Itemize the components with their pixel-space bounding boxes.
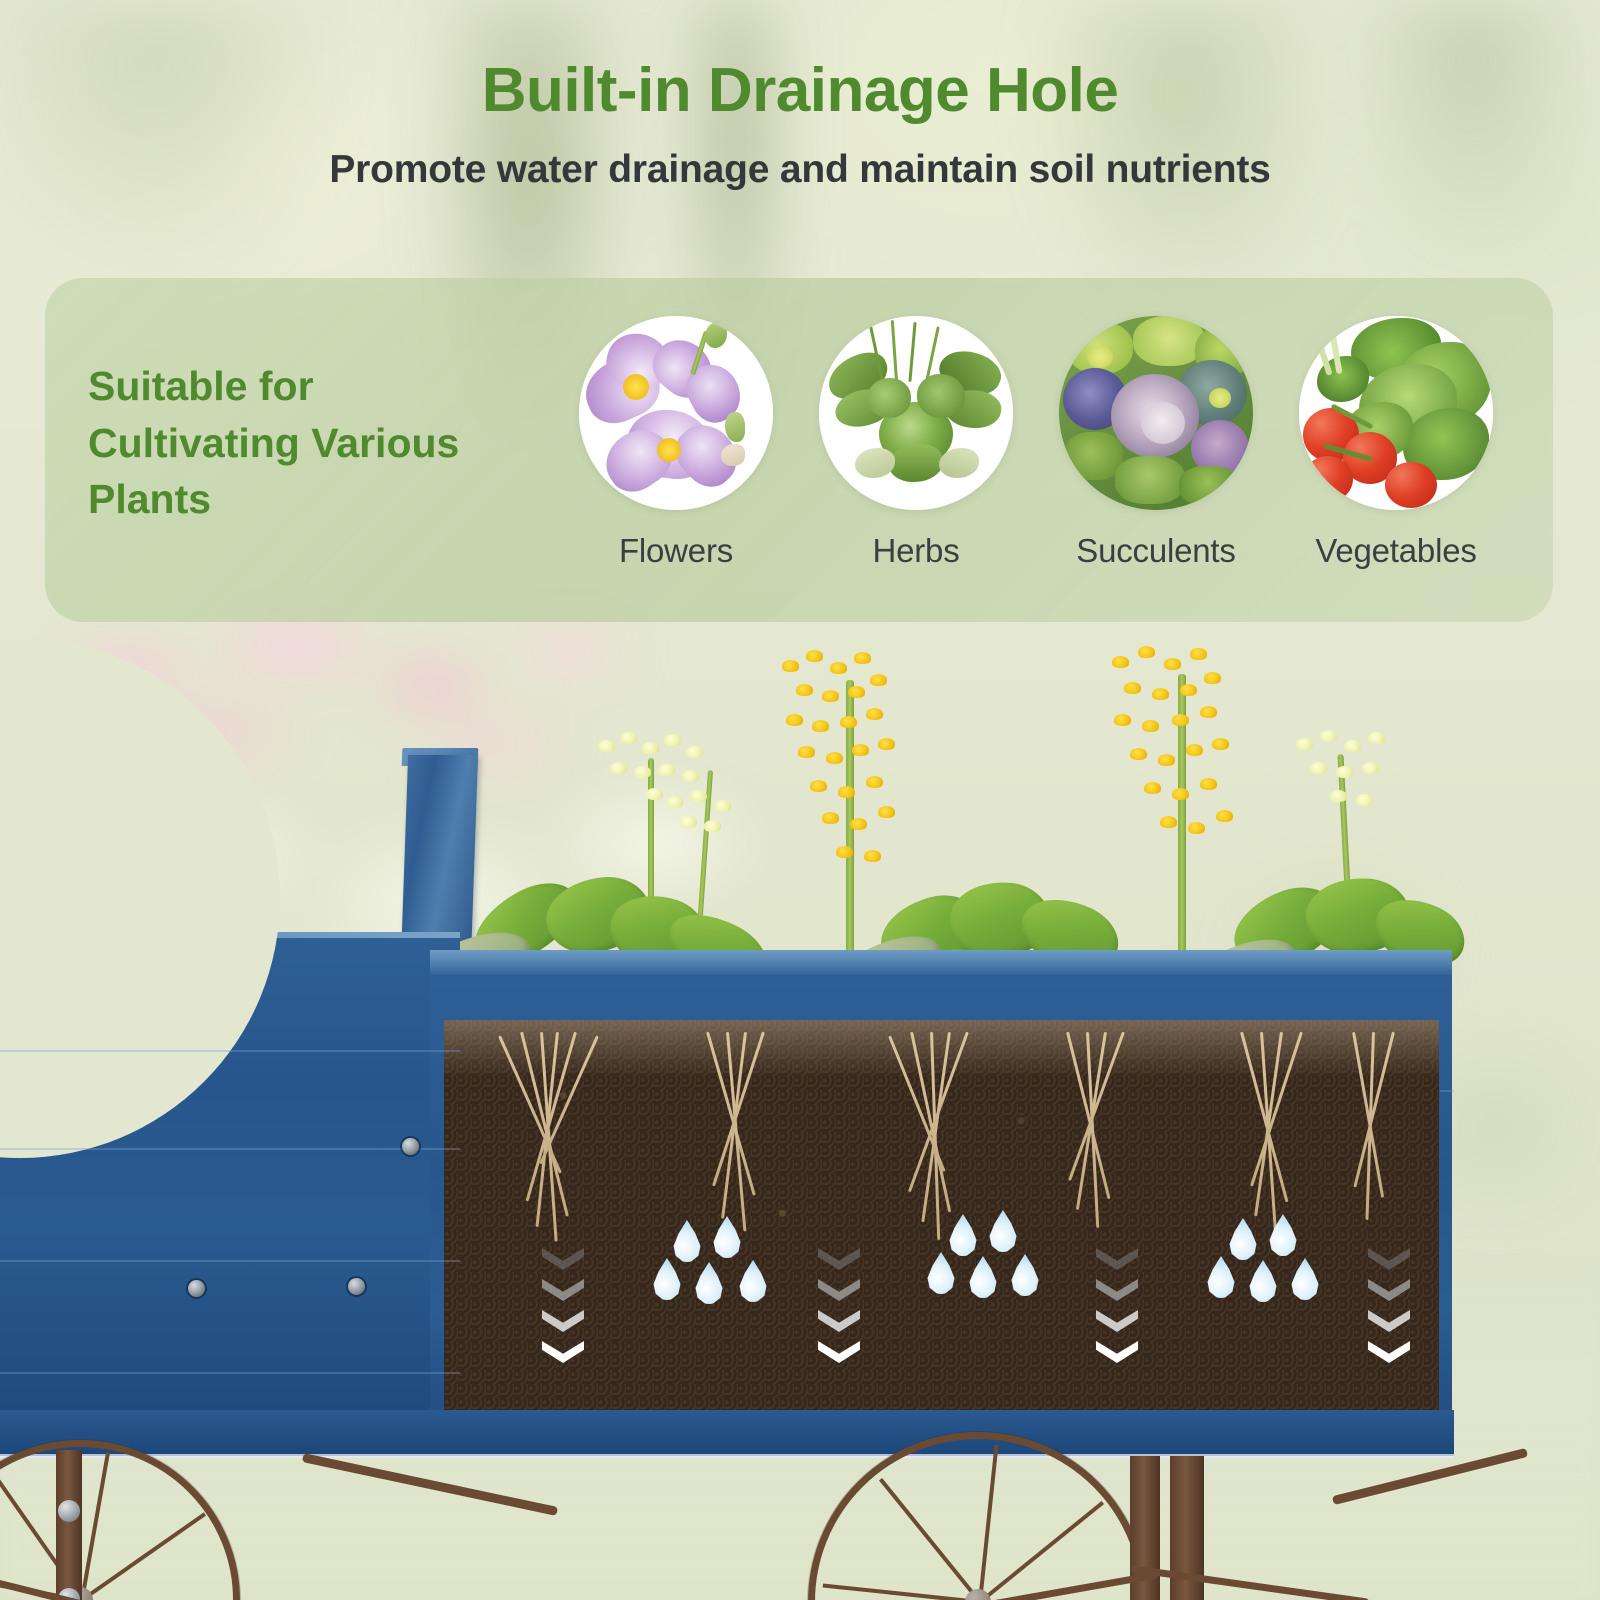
axle-bar [1131,1565,1370,1600]
chevron-down-icon [818,1248,860,1372]
plant-type-label: Vegetables [1315,532,1476,570]
leg-bracket [56,1450,82,1600]
plank-line [0,1050,460,1052]
flowers-icon [579,316,773,510]
marketing-image-canvas: Built-in Drainage Hole Promote water dra… [0,0,1600,1600]
planter-top-rim [430,950,1452,978]
herbs-icon [819,316,1013,510]
plant-type-item-vegetables[interactable]: Vegetables [1276,316,1516,606]
plant-type-item-herbs[interactable]: Herbs [796,316,1036,606]
succulents-icon [1059,316,1253,510]
plant-type-label: Herbs [872,532,959,570]
chevron-down-icon [542,1248,584,1372]
bolt-icon [58,1500,80,1522]
screw-icon [348,1278,365,1295]
plank-line [1440,1090,1454,1092]
plant-type-label: Succulents [1076,532,1235,570]
plant-type-label: Flowers [619,532,733,570]
page-subtitle: Promote water drainage and maintain soil… [0,148,1600,192]
plant-type-list: Flowers [556,316,1516,606]
plank-line [0,1372,460,1374]
screw-icon [188,1280,205,1297]
planter-left-side-panel [0,938,460,1418]
planter-bottom-edge-highlight [0,1454,1454,1458]
plant-type-item-succulents[interactable]: Succulents [1036,316,1276,606]
planter-bottom-rail [0,1410,1454,1456]
panel-heading: Suitable for Cultivating Various Plants [88,358,518,528]
page-title: Built-in Drainage Hole [0,58,1600,123]
chevron-down-icon [1096,1248,1138,1372]
chevron-down-icon [1368,1248,1410,1372]
screw-icon [402,1138,419,1155]
frame-bar [302,1453,558,1516]
product-planter-photo [0,620,1600,1600]
vegetables-icon [1299,316,1493,510]
plant-type-item-flowers[interactable]: Flowers [556,316,796,606]
plank-line [0,1260,460,1262]
plank-line [0,1148,460,1150]
